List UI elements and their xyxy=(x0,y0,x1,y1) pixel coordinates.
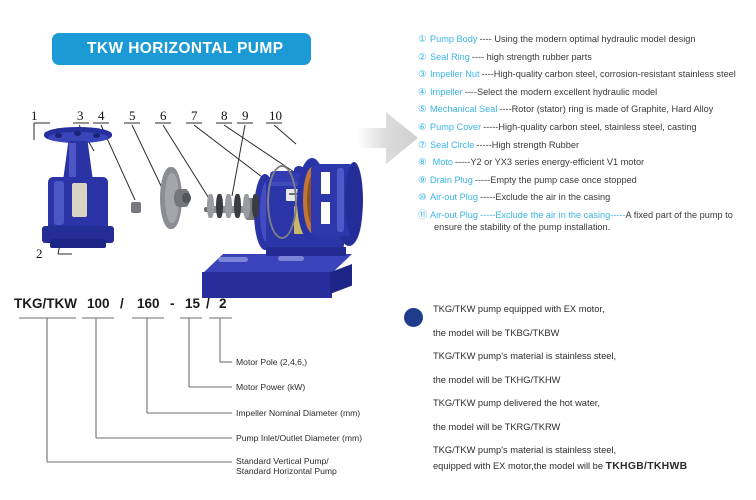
page-title: TKW HORIZONTAL PUMP xyxy=(87,40,283,58)
pump-product-sheet: TKW HORIZONTAL PUMP xyxy=(0,0,756,500)
feature-item: ⑤ Mechanical Seal----Rotor (stator) ring… xyxy=(418,103,754,115)
callout-7: 7 xyxy=(191,109,198,122)
feature-item: ⑨ Drain Plug-----Empty the pump case onc… xyxy=(418,174,754,186)
note-line: the model will be TKRG/TKRW xyxy=(433,422,754,433)
nomenclature-label-motor-pole: Motor Pole (2,4,6,) xyxy=(236,357,307,368)
exploded-pump-diagram: 1 3 4 5 6 7 8 9 10 2 11 xyxy=(14,96,374,286)
callout-8: 8 xyxy=(221,109,228,122)
callout-1: 1 xyxy=(31,109,38,122)
feature-sep: ---- xyxy=(499,104,511,114)
callout-4: 4 xyxy=(98,109,105,122)
pump-body xyxy=(38,127,118,249)
callout-10: 10 xyxy=(269,109,282,122)
callout-3: 3 xyxy=(77,109,84,122)
feature-item: ④ Impeller----Select the modern excellen… xyxy=(418,86,754,98)
feature-sep: ----- xyxy=(455,157,470,167)
feature-term: Impeller xyxy=(430,87,463,97)
seal-circle-oring xyxy=(267,165,297,239)
feature-term: Air-out Plug xyxy=(430,210,478,220)
note-line: TKG/TKW pump delivered the hot water, xyxy=(433,398,754,409)
nomenclature-label-impeller-dia: Impeller Nominal Diameter (mm) xyxy=(236,408,360,419)
feature-number: ⑥ xyxy=(418,121,430,133)
feature-item: ⑩ Air-out Plug-----Exclude the air in th… xyxy=(418,191,754,203)
feature-item: ③ Impeller Nut----High-quality carbon st… xyxy=(418,68,754,80)
note-line: the model will be TKBG/TKBW xyxy=(433,328,754,339)
note-line-text: equipped with EX motor,the model will be xyxy=(433,461,606,471)
feature-term: Seal Circle xyxy=(430,140,474,150)
feature-item: ⑦ Seal Circle-----High strength Rubber xyxy=(418,139,754,151)
note-line: TKG/TKW pump equipped with EX motor, xyxy=(433,304,754,315)
feature-number: ⑦ xyxy=(418,139,430,151)
feature-desc: Rotor (stator) ring is made of Graphite,… xyxy=(512,104,714,114)
right-arrow-icon xyxy=(358,108,420,168)
feature-desc: Exclude the air in the casing xyxy=(495,192,610,202)
feature-sep: ----- xyxy=(480,210,495,220)
feature-sep: ---- xyxy=(465,87,477,97)
feature-number: ⑨ xyxy=(418,174,430,186)
feature-desc-cyan: Exclude the air in the casing----- xyxy=(495,210,625,220)
model-nomenclature: TKG/TKW 100 / 160 - 15 / 2 xyxy=(14,296,394,496)
note-line: TKG/TKW pump's material is stainless ste… xyxy=(433,351,754,362)
feature-number: ② xyxy=(418,51,430,63)
nomenclature-label-inlet-dia: Pump Inlet/Outlet Diameter (mm) xyxy=(236,433,362,444)
feature-list: ① Pump Body---- Using the modern optimal… xyxy=(418,33,754,239)
feature-item: ⑥ Pump Cover-----High-quality carbon ste… xyxy=(418,121,754,133)
feature-sep: ---- xyxy=(480,34,492,44)
note-model-code: TKHGB/TKHWB xyxy=(606,461,688,472)
note-line: the model will be TKHG/TKHW xyxy=(433,375,754,386)
feature-desc: High-quality carbon steel, corrosion-res… xyxy=(494,69,736,79)
feature-desc: High strength Rubber xyxy=(492,140,579,150)
feature-desc: Y2 or YX3 series energy-efficient V1 mot… xyxy=(470,157,644,167)
nomenclature-label-motor-power: Motor Power (kW) xyxy=(236,382,305,393)
feature-number: ⑤ xyxy=(418,103,430,115)
feature-desc: high strength rubber parts xyxy=(487,52,592,62)
feature-term: Mechanical Seal xyxy=(430,104,497,114)
feature-term: Drain Plug xyxy=(430,175,473,185)
feature-sep: ---- xyxy=(482,69,494,79)
feature-number: ③ xyxy=(418,68,430,80)
note-line-last: equipped with EX motor,the model will be… xyxy=(433,461,754,472)
feature-sep: ----- xyxy=(475,175,490,185)
feature-item: ① Pump Body---- Using the modern optimal… xyxy=(418,33,754,45)
callout-9: 9 xyxy=(242,109,249,122)
feature-term: Seal Ring xyxy=(430,52,470,62)
feature-sep: ----- xyxy=(480,192,495,202)
callout-6: 6 xyxy=(160,109,167,122)
feature-desc-continued: ensure the stability of the pump install… xyxy=(434,221,754,233)
feature-term: Air-out Plug xyxy=(430,192,478,202)
feature-number: ⑪ xyxy=(418,209,430,221)
feature-number: ⑧ xyxy=(418,156,430,168)
feature-sep: ----- xyxy=(483,122,498,132)
callout-5: 5 xyxy=(129,109,136,122)
feature-number: ④ xyxy=(418,86,430,98)
bullet-dot-icon xyxy=(404,308,423,327)
feature-term: Pump Body xyxy=(430,34,478,44)
feature-desc: Empty the pump case once stopped xyxy=(490,175,637,185)
feature-item: ⑪ Air-out Plug-----Exclude the air in th… xyxy=(418,209,754,233)
feature-item: ⑧ Moto-----Y2 or YX3 series energy-effic… xyxy=(418,156,754,168)
impeller xyxy=(152,167,192,229)
feature-desc: High-quality carbon steel, stainless ste… xyxy=(498,122,696,132)
model-variant-notes: TKG/TKW pump equipped with EX motor, the… xyxy=(404,304,754,485)
feature-sep: ----- xyxy=(476,140,491,150)
mechanical-seal-stack xyxy=(207,194,263,218)
feature-item: ② Seal Ring---- high strength rubber par… xyxy=(418,51,754,63)
feature-number: ⑩ xyxy=(418,191,430,203)
feature-sep: ---- xyxy=(472,52,484,62)
nomenclature-label-pump-type-2: Standard Horizontal Pump xyxy=(236,466,337,477)
impeller-nut xyxy=(131,202,141,213)
feature-desc: Using the modern optimal hydraulic model… xyxy=(494,34,695,44)
feature-term: Pump Cover xyxy=(430,122,481,132)
pump-cover-bracket xyxy=(297,158,363,242)
page-title-banner: TKW HORIZONTAL PUMP xyxy=(52,33,311,65)
feature-term: Impeller Nut xyxy=(430,69,480,79)
note-line: TKG/TKW pump's material is stainless ste… xyxy=(433,445,754,456)
feature-term: Moto xyxy=(433,157,453,167)
feature-desc: Select the modern excellent hydraulic mo… xyxy=(477,87,657,97)
feature-desc: A fixed part of the pump to xyxy=(626,210,733,220)
feature-number: ① xyxy=(418,33,430,45)
nomenclature-leader-lines xyxy=(14,296,394,496)
